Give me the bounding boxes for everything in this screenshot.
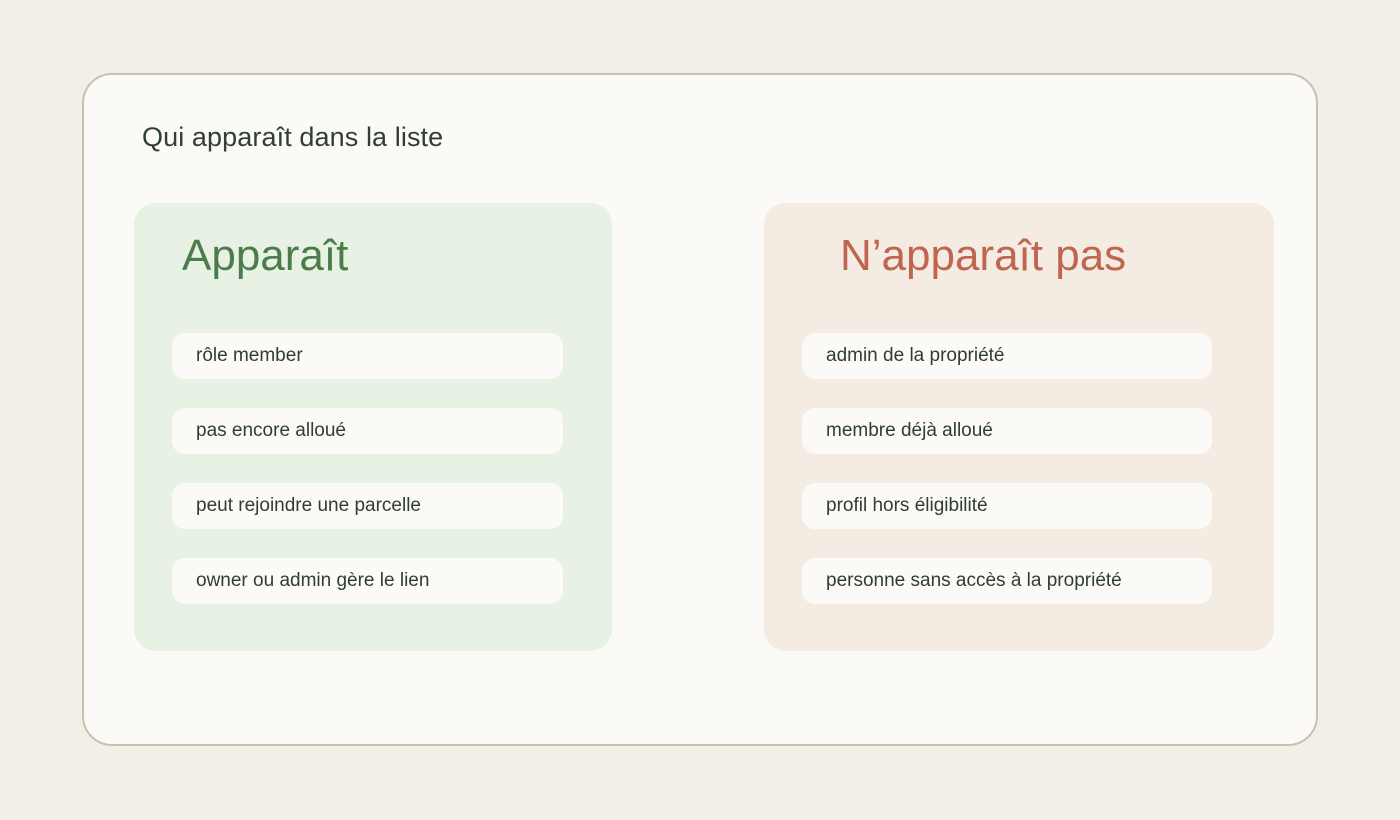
list-item-label: admin de la propriété — [826, 344, 1005, 368]
list-item-label: membre déjà alloué — [826, 419, 993, 443]
list-item[interactable]: peut rejoindre une parcelle — [172, 483, 563, 529]
list-item[interactable]: profil hors éligibilité — [802, 483, 1212, 529]
list-item[interactable]: membre déjà alloué — [802, 408, 1212, 454]
list-item-label: pas encore alloué — [196, 419, 346, 443]
panel-appears-heading: Apparaît — [182, 229, 348, 283]
list-item-label: peut rejoindre une parcelle — [196, 494, 421, 518]
list-item-label: profil hors éligibilité — [826, 494, 988, 518]
comparison-card: Qui apparaît dans la liste Apparaît rôle… — [82, 73, 1318, 746]
slide-canvas: Qui apparaît dans la liste Apparaît rôle… — [0, 0, 1400, 820]
panel-does-not-appear-heading: N’apparaît pas — [840, 229, 1126, 283]
page-title: Qui apparaît dans la liste — [142, 121, 443, 153]
list-item-label: personne sans accès à la propriété — [826, 569, 1122, 593]
list-item[interactable]: pas encore alloué — [172, 408, 563, 454]
panel-appears: Apparaît rôle member pas encore alloué p… — [134, 203, 612, 651]
list-item-label: rôle member — [196, 344, 303, 368]
list-item[interactable]: rôle member — [172, 333, 563, 379]
list-item[interactable]: personne sans accès à la propriété — [802, 558, 1212, 604]
list-item[interactable]: admin de la propriété — [802, 333, 1212, 379]
panel-does-not-appear: N’apparaît pas admin de la propriété mem… — [764, 203, 1274, 651]
list-item-label: owner ou admin gère le lien — [196, 569, 429, 593]
panel-appears-list: rôle member pas encore alloué peut rejoi… — [134, 333, 612, 604]
comparison-panels: Apparaît rôle member pas encore alloué p… — [134, 203, 1274, 651]
panel-does-not-appear-list: admin de la propriété membre déjà alloué… — [764, 333, 1274, 604]
list-item[interactable]: owner ou admin gère le lien — [172, 558, 563, 604]
